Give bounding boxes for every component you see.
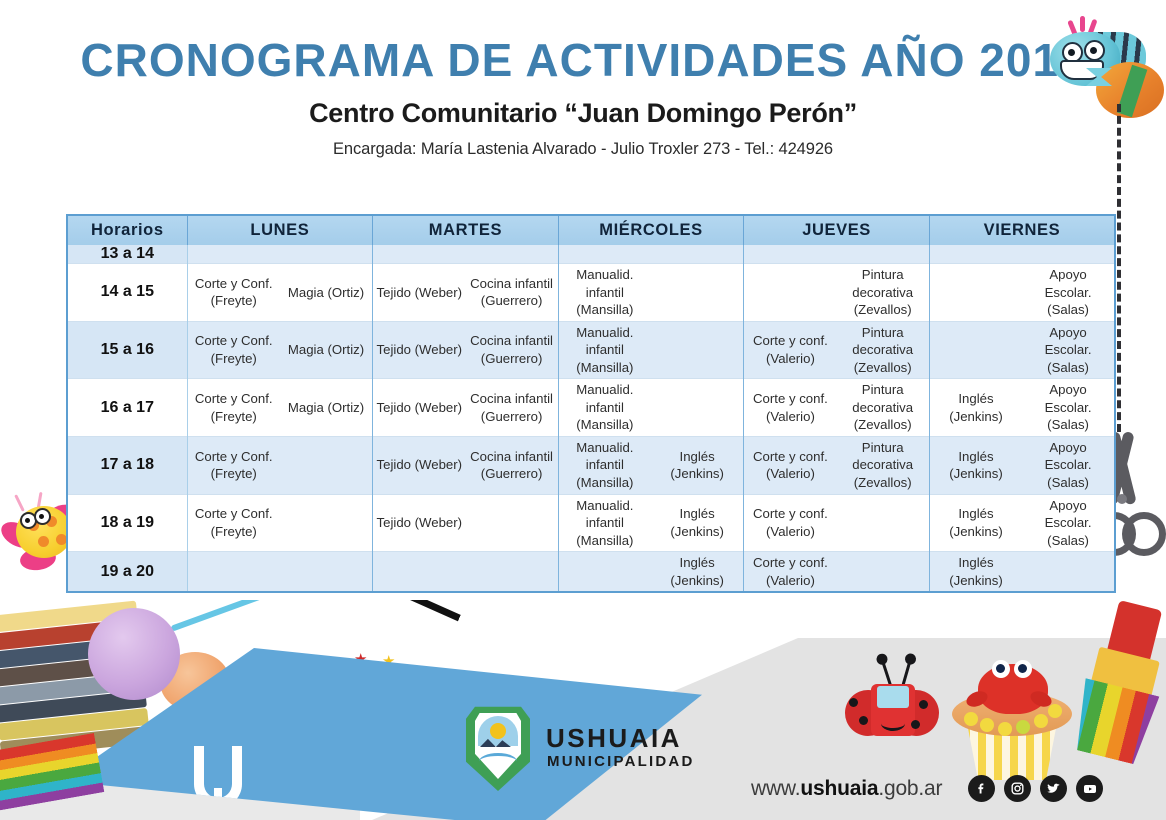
cell-jueves-b: Pintura decorativa (Zevallos) bbox=[837, 379, 930, 437]
schedule-table-head: Horarios LUNES MARTES MIÉRCOLES JUEVES V… bbox=[67, 215, 1115, 245]
schedule-table-container: Horarios LUNES MARTES MIÉRCOLES JUEVES V… bbox=[66, 214, 1116, 592]
table-row: 14 a 15 Corte y Conf. (Freyte) Magia (Or… bbox=[67, 264, 1115, 322]
cell-viernes-b bbox=[1022, 552, 1115, 593]
contact-info: Encargada: María Lastenia Alvarado - Jul… bbox=[0, 129, 1166, 159]
cell-jueves-a: Corte y conf. (Valerio) bbox=[744, 494, 837, 552]
cell-lunes-b: Magia (Ortiz) bbox=[280, 379, 373, 437]
youtube-icon[interactable] bbox=[1076, 775, 1103, 802]
cell-miercoles-b: Inglés (Jenkins) bbox=[651, 552, 744, 593]
column-header-martes: MARTES bbox=[373, 215, 559, 245]
cell-miercoles-a: Manualid. infantil (Mansilla) bbox=[558, 494, 651, 552]
cell-viernes-a: Inglés (Jenkins) bbox=[929, 379, 1022, 437]
cell-miercoles-a bbox=[558, 552, 651, 593]
schedule-table-body: 13 a 14 14 a 15 Corte y Conf. (Freyte) M… bbox=[67, 245, 1115, 592]
row-time: 17 a 18 bbox=[67, 436, 187, 494]
cell-viernes-b: Apoyo Escolar. (Salas) bbox=[1022, 494, 1115, 552]
cell-miercoles-a: Manualid. infantil (Mansilla) bbox=[558, 436, 651, 494]
cell-martes-a: Tejido (Weber) bbox=[373, 379, 466, 437]
website-url[interactable]: www.ushuaia.gob.ar bbox=[751, 777, 942, 801]
website-suffix: .gob.ar bbox=[878, 777, 942, 800]
row-time: 14 a 15 bbox=[67, 264, 187, 322]
cell-jueves-a: Corte y conf. (Valerio) bbox=[744, 379, 837, 437]
cell-miercoles-b bbox=[651, 321, 744, 379]
cell-jueves-a bbox=[744, 245, 837, 264]
cell-viernes-b: Apoyo Escolar. (Salas) bbox=[1022, 436, 1115, 494]
cell-martes-a: Tejido (Weber) bbox=[373, 494, 466, 552]
cell-jueves-a bbox=[744, 264, 837, 322]
cell-martes-b: Cocina infantil (Guerrero) bbox=[465, 436, 558, 494]
schedule-header-row: Horarios LUNES MARTES MIÉRCOLES JUEVES V… bbox=[67, 215, 1115, 245]
website-prefix: www. bbox=[751, 777, 800, 800]
cell-viernes-a bbox=[929, 321, 1022, 379]
row-time: 19 a 20 bbox=[67, 552, 187, 593]
cell-jueves-b: Pintura decorativa (Zevallos) bbox=[837, 436, 930, 494]
table-row: 13 a 14 bbox=[67, 245, 1115, 264]
column-header-miercoles: MIÉRCOLES bbox=[558, 215, 744, 245]
cell-lunes-a: Corte y Conf. (Freyte) bbox=[187, 264, 280, 322]
column-header-lunes: LUNES bbox=[187, 215, 373, 245]
cell-martes-a: Tejido (Weber) bbox=[373, 436, 466, 494]
page-title: CRONOGRAMA DE ACTIVIDADES AÑO 2016 bbox=[0, 0, 1166, 84]
cell-viernes-a: Inglés (Jenkins) bbox=[929, 436, 1022, 494]
twitter-icon[interactable] bbox=[1040, 775, 1067, 802]
cell-lunes-a: Corte y Conf. (Freyte) bbox=[187, 494, 280, 552]
poster-page: CRONOGRAMA DE ACTIVIDADES AÑO 2016 Centr… bbox=[0, 0, 1166, 820]
cell-miercoles-b bbox=[651, 264, 744, 322]
row-time: 16 a 17 bbox=[67, 379, 187, 437]
cell-viernes-a: Inglés (Jenkins) bbox=[929, 552, 1022, 593]
cell-lunes-b: Magia (Ortiz) bbox=[280, 264, 373, 322]
cell-jueves-a: Corte y conf. (Valerio) bbox=[744, 436, 837, 494]
dashed-cut-line bbox=[1117, 104, 1121, 432]
cell-miercoles-b bbox=[651, 245, 744, 264]
facebook-icon[interactable] bbox=[968, 775, 995, 802]
cell-miercoles-a: Manualid. infantil (Mansilla) bbox=[558, 321, 651, 379]
yarn-ball-icon bbox=[88, 608, 180, 700]
cell-viernes-a bbox=[929, 245, 1022, 264]
cell-lunes-a: Corte y Conf. (Freyte) bbox=[187, 436, 280, 494]
cell-viernes-b: Apoyo Escolar. (Salas) bbox=[1022, 379, 1115, 437]
cell-viernes-a: Inglés (Jenkins) bbox=[929, 494, 1022, 552]
cell-martes-b bbox=[465, 494, 558, 552]
ladybug-craft-icon bbox=[845, 682, 941, 744]
cell-jueves-a: Corte y conf. (Valerio) bbox=[744, 321, 837, 379]
table-row: 18 a 19 Corte y Conf. (Freyte) Tejido (W… bbox=[67, 494, 1115, 552]
cell-lunes-a: Corte y Conf. (Freyte) bbox=[187, 379, 280, 437]
cell-miercoles-a bbox=[558, 245, 651, 264]
cell-miercoles-b: Inglés (Jenkins) bbox=[651, 494, 744, 552]
cell-lunes-b bbox=[280, 494, 373, 552]
cell-martes-b bbox=[465, 245, 558, 264]
poster-header: CRONOGRAMA DE ACTIVIDADES AÑO 2016 Centr… bbox=[0, 0, 1166, 185]
table-row: 15 a 16 Corte y Conf. (Freyte) Magia (Or… bbox=[67, 321, 1115, 379]
table-row: 16 a 17 Corte y Conf. (Freyte) Magia (Or… bbox=[67, 379, 1115, 437]
row-time: 18 a 19 bbox=[67, 494, 187, 552]
cell-lunes-a bbox=[187, 552, 280, 593]
cell-martes-b: Cocina infantil (Guerrero) bbox=[465, 321, 558, 379]
cell-lunes-b bbox=[280, 436, 373, 494]
website-brand: ushuaia bbox=[800, 777, 878, 800]
column-header-viernes: VIERNES bbox=[929, 215, 1115, 245]
cell-miercoles-a: Manualid. infantil (Mansilla) bbox=[558, 264, 651, 322]
row-time: 15 a 16 bbox=[67, 321, 187, 379]
cell-jueves-b bbox=[837, 245, 930, 264]
social-links bbox=[968, 775, 1103, 802]
cell-martes-a bbox=[373, 552, 466, 593]
municipality-subtitle: MUNICIPALIDAD bbox=[547, 753, 694, 770]
page-subtitle: Centro Comunitario “Juan Domingo Perón” bbox=[0, 84, 1166, 129]
column-header-jueves: JUEVES bbox=[744, 215, 930, 245]
cell-jueves-a: Corte y conf. (Valerio) bbox=[744, 552, 837, 593]
municipality-logo: USHUAIA MUNICIPALIDAD bbox=[466, 705, 706, 797]
cell-jueves-b: Pintura decorativa (Zevallos) bbox=[837, 321, 930, 379]
cell-viernes-b: Apoyo Escolar. (Salas) bbox=[1022, 321, 1115, 379]
cell-miercoles-a: Manualid. infantil (Mansilla) bbox=[558, 379, 651, 437]
schedule-table: Horarios LUNES MARTES MIÉRCOLES JUEVES V… bbox=[66, 214, 1116, 593]
cell-martes-b bbox=[465, 552, 558, 593]
table-row: 19 a 20 Inglés (Jenkins) Corte y conf. (… bbox=[67, 552, 1115, 593]
cell-martes-a: Tejido (Weber) bbox=[373, 321, 466, 379]
row-time: 13 a 14 bbox=[67, 245, 187, 264]
cupcake-crab-icon bbox=[948, 658, 1076, 784]
cell-martes-a: Tejido (Weber) bbox=[373, 264, 466, 322]
cell-jueves-b: Pintura decorativa (Zevallos) bbox=[837, 264, 930, 322]
cell-lunes-b bbox=[280, 245, 373, 264]
cell-martes-a bbox=[373, 245, 466, 264]
table-row: 17 a 18 Corte y Conf. (Freyte) Tejido (W… bbox=[67, 436, 1115, 494]
cell-viernes-b bbox=[1022, 245, 1115, 264]
column-header-horarios: Horarios bbox=[67, 215, 187, 245]
cell-viernes-b: Apoyo Escolar. (Salas) bbox=[1022, 264, 1115, 322]
cell-martes-b: Cocina infantil (Guerrero) bbox=[465, 264, 558, 322]
cell-lunes-b: Magia (Ortiz) bbox=[280, 321, 373, 379]
instagram-icon[interactable] bbox=[1004, 775, 1031, 802]
cell-martes-b: Cocina infantil (Guerrero) bbox=[465, 379, 558, 437]
cell-lunes-a bbox=[187, 245, 280, 264]
cell-jueves-b bbox=[837, 494, 930, 552]
cell-jueves-b bbox=[837, 552, 930, 593]
cell-miercoles-b bbox=[651, 379, 744, 437]
caterpillar-bug-icon bbox=[1046, 8, 1158, 112]
cell-lunes-b bbox=[280, 552, 373, 593]
cell-lunes-a: Corte y Conf. (Freyte) bbox=[187, 321, 280, 379]
municipality-name: USHUAIA bbox=[546, 723, 682, 754]
ushuaia-crest-icon bbox=[466, 705, 530, 791]
cell-miercoles-b: Inglés (Jenkins) bbox=[651, 436, 744, 494]
cell-viernes-a bbox=[929, 264, 1022, 322]
